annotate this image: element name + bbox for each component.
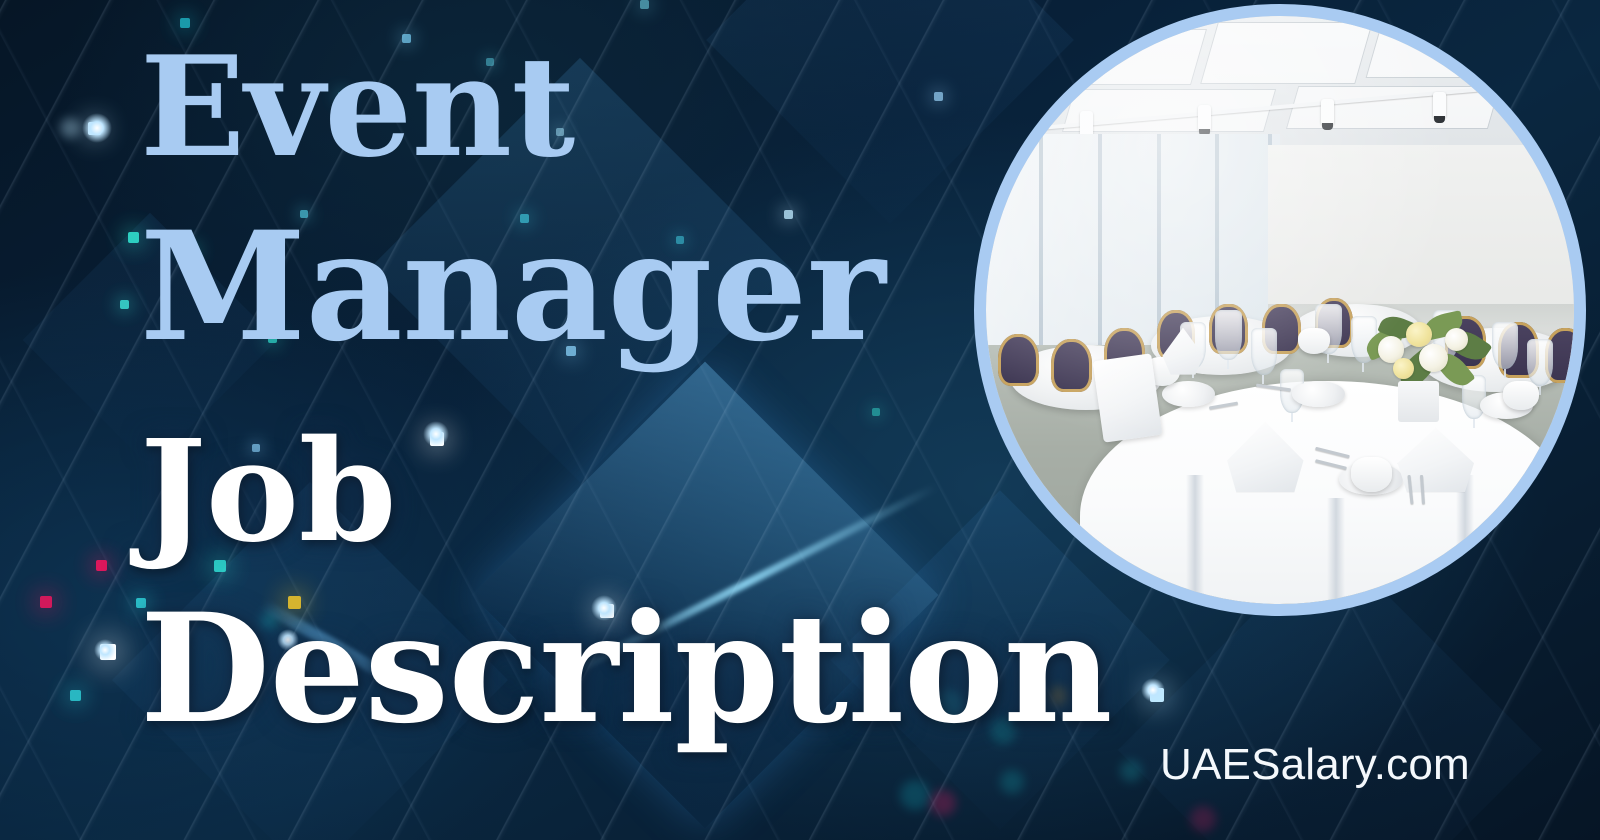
sparkle-particle-icon [128,232,139,243]
bokeh-glow-icon [1120,760,1142,782]
sparkle-particle-icon [872,408,880,416]
photo-wine-glass [1215,310,1241,360]
bokeh-glow-icon [900,780,930,810]
photo-wine-glass [1492,322,1518,369]
photo-coffee-cup [1503,381,1538,410]
photo-far-chair [998,334,1039,387]
sparkle-particle-icon [40,596,52,608]
bokeh-glow-icon [1190,806,1216,832]
headline-line-4: Description [140,600,1112,738]
sparkle-particle-icon [96,560,107,571]
headline-line-2: Manager [140,218,885,356]
photo-coffee-cup [1298,328,1330,354]
photo-draped-napkin [1092,353,1162,443]
bokeh-glow-icon [930,790,956,816]
hero-photo-circle [974,4,1586,616]
bokeh-glow-icon [60,118,80,138]
photo-far-chair [1051,339,1092,392]
lens-flare-icon [1141,678,1165,702]
sparkle-particle-icon [640,0,649,9]
lens-flare-icon [94,639,116,661]
photo-wine-glass [1251,328,1277,375]
site-watermark: UAESalary.com [1160,740,1470,790]
photo-wine-glass [1527,339,1553,386]
bokeh-glow-icon [1000,770,1024,794]
photo-coffee-cup [1351,457,1392,492]
headline-line-3: Job [140,428,396,557]
photo-plate [1292,381,1345,407]
sparkle-particle-icon [70,690,81,701]
headline-line-1: Event [140,44,575,171]
lens-flare-icon [423,421,449,447]
hero-photo [986,16,1574,604]
photo-condiment-set [1398,381,1439,422]
lens-flare-icon [82,113,112,143]
poster-canvas: Event Manager Job Description UAESalary.… [0,0,1600,840]
sparkle-particle-icon [934,92,943,101]
sparkle-particle-icon [120,300,129,309]
